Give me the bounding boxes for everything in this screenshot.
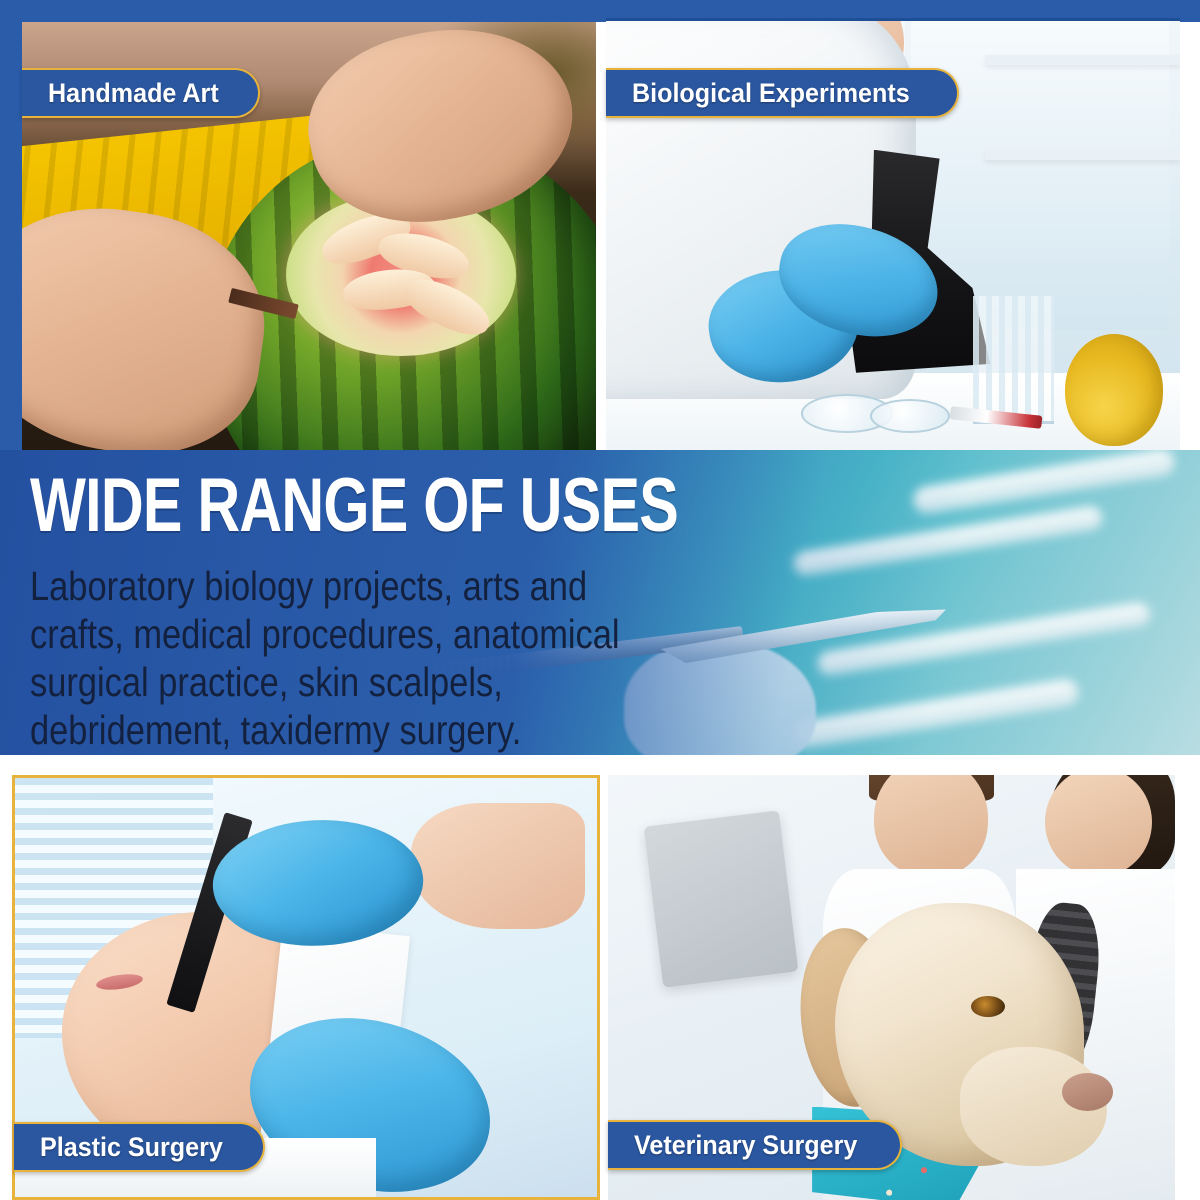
wide-range-band: WIDE RANGE OF USES Laboratory biology pr…	[0, 450, 1200, 755]
label-plastic-surgery-text: Plastic Surgery	[40, 1132, 223, 1163]
label-biological-experiments[interactable]: Biological Experiments	[606, 68, 959, 118]
label-plastic-surgery[interactable]: Plastic Surgery	[14, 1122, 265, 1172]
label-veterinary-surgery-text: Veterinary Surgery	[634, 1130, 857, 1161]
poster-root: WIDE RANGE OF USES Laboratory biology pr…	[0, 0, 1200, 1200]
left-blue-rail	[0, 0, 22, 452]
description-text: Laboratory biology projects, arts and cr…	[30, 562, 668, 754]
label-biological-experiments-text: Biological Experiments	[632, 78, 910, 109]
label-handmade-art-text: Handmade Art	[48, 78, 219, 109]
label-handmade-art[interactable]: Handmade Art	[22, 68, 260, 118]
page-title: WIDE RANGE OF USES	[30, 460, 576, 546]
label-veterinary-surgery[interactable]: Veterinary Surgery	[608, 1120, 902, 1170]
